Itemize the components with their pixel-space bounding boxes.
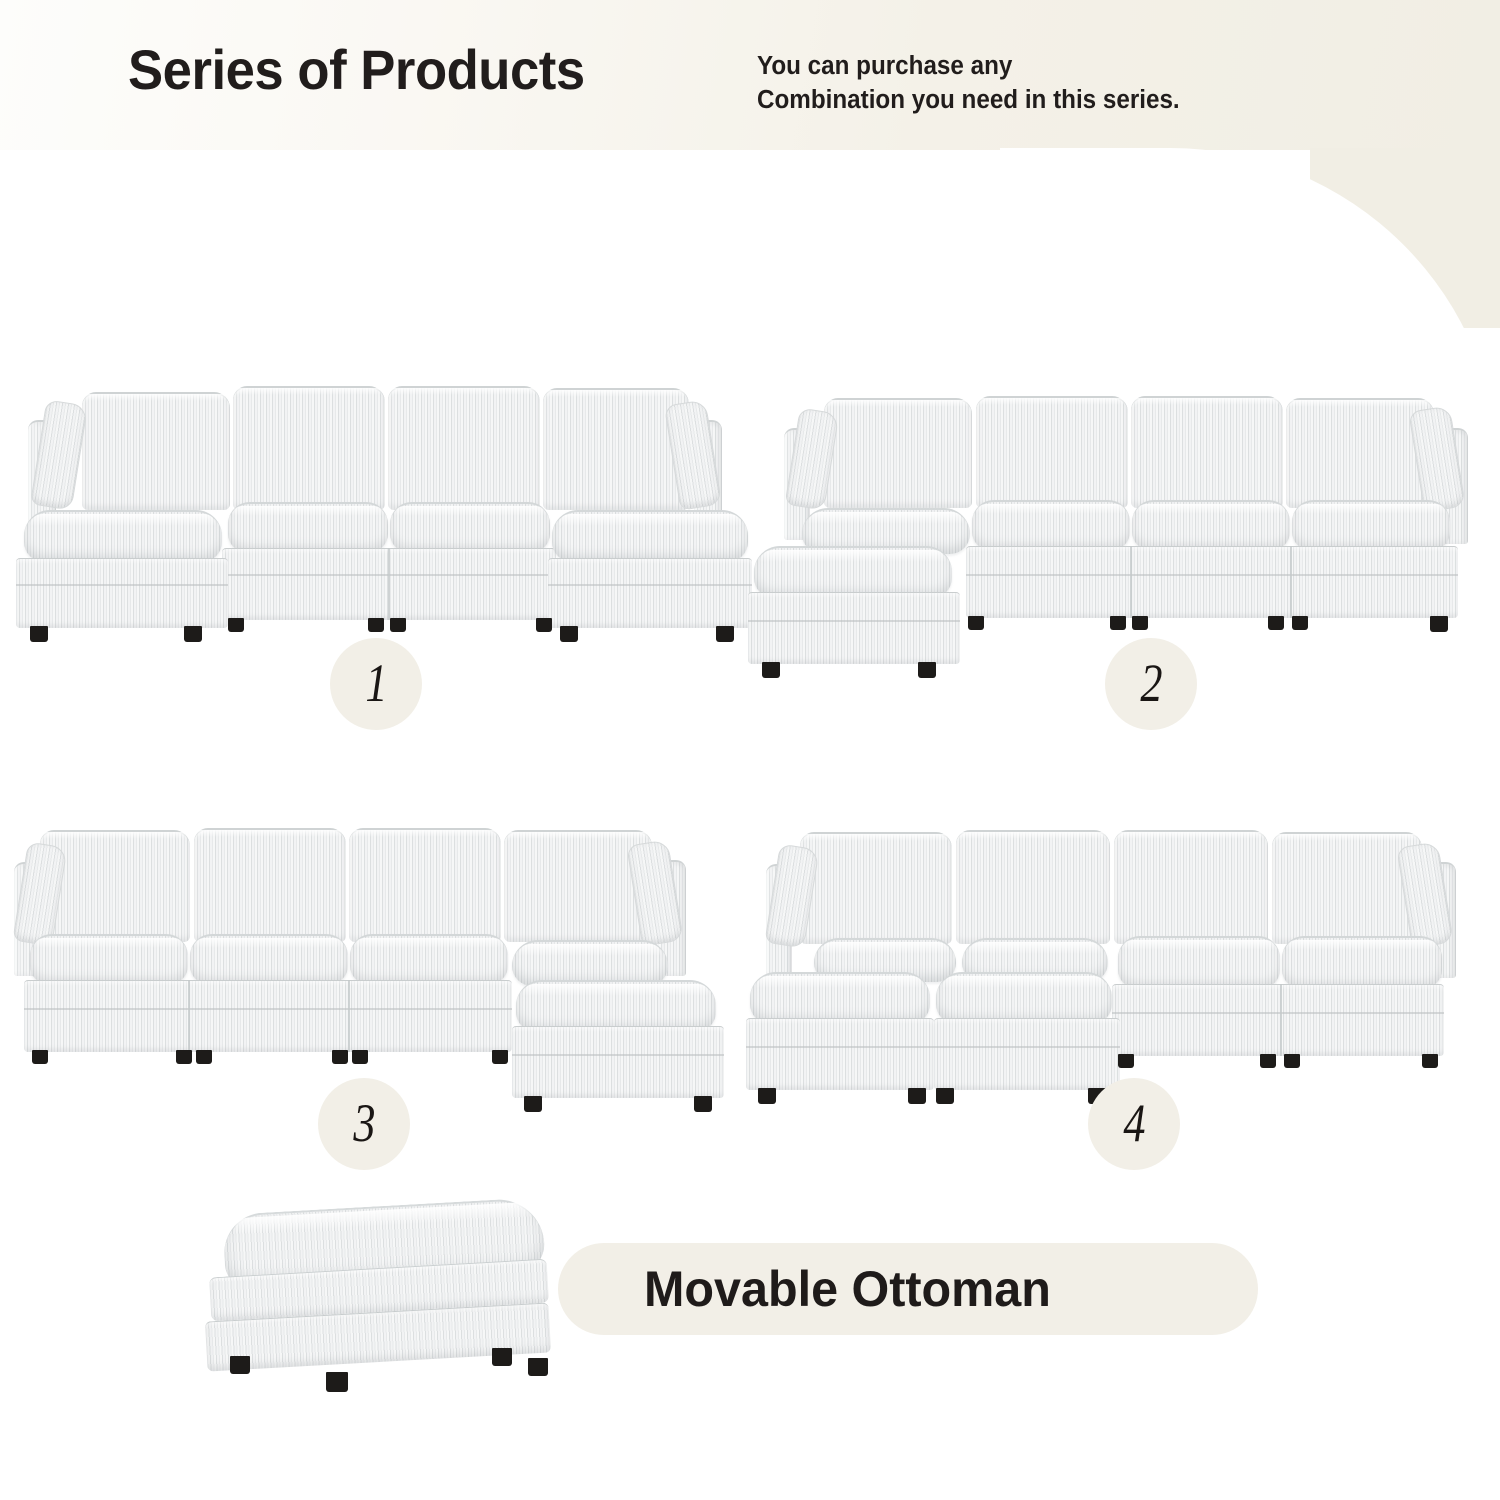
module-seam	[388, 548, 390, 620]
combination-2-illustration	[740, 370, 1500, 625]
base-seam	[24, 1008, 512, 1010]
seat-cushion	[1132, 500, 1290, 550]
combination-badge-number: 2	[1140, 652, 1162, 714]
header-subtitle: You can purchase any Combination you nee…	[757, 50, 1180, 118]
base-seam	[512, 1054, 724, 1056]
sofa-leg	[196, 1050, 212, 1064]
sofa-leg	[352, 1050, 368, 1064]
combination-badge-number: 3	[353, 1092, 375, 1154]
back-cushion	[233, 386, 385, 510]
ottoman-cushion-left	[24, 510, 222, 562]
base-seam	[748, 620, 960, 622]
combination-3-illustration	[0, 810, 750, 1070]
sofa-leg	[1118, 1054, 1134, 1068]
combination-1-illustration	[0, 370, 750, 620]
module-seam	[188, 980, 190, 1052]
combination-badge-2[interactable]: 2	[1105, 638, 1197, 730]
page-title: Series of Products	[128, 37, 585, 102]
sofa-leg	[762, 662, 780, 678]
sofa-leg	[1292, 616, 1308, 630]
combination-badge-1[interactable]: 1	[330, 638, 422, 730]
sofa-base	[1112, 984, 1444, 1056]
seat-cushion	[30, 934, 188, 984]
seat-cushion	[228, 502, 388, 552]
sofa-base	[24, 980, 512, 1052]
back-cushion	[956, 830, 1110, 944]
sofa-leg	[332, 1050, 348, 1064]
back-cushion	[1114, 830, 1268, 944]
base-seam	[1112, 1012, 1444, 1014]
header-subtitle-line-1: You can purchase any	[757, 50, 1180, 84]
ottoman-cushion-left	[754, 546, 952, 598]
sofa-leg	[536, 618, 552, 632]
throw-pillow-left	[30, 399, 88, 510]
base-seam	[16, 584, 228, 586]
back-cushion	[543, 388, 689, 510]
combination-3[interactable]: 3	[0, 810, 750, 1160]
seat-cushion	[972, 500, 1130, 550]
seat-cushion	[350, 934, 508, 984]
combination-badge-number: 4	[1123, 1092, 1145, 1154]
seat-cushion	[190, 934, 348, 984]
sofa-leg	[1268, 616, 1284, 630]
movable-ottoman-illustration[interactable]	[196, 1196, 596, 1436]
combination-badge-number: 1	[365, 652, 387, 714]
sofa-leg	[184, 626, 202, 642]
ottoman-leg	[230, 1356, 250, 1374]
back-cushion	[40, 830, 190, 942]
ottoman-cushion-left-1	[750, 972, 930, 1024]
back-cushion	[82, 392, 230, 510]
combination-2[interactable]: 2	[740, 370, 1500, 720]
sofa-leg	[30, 626, 48, 642]
sofa-leg	[918, 662, 936, 678]
base-seam	[934, 1046, 1120, 1048]
back-cushion	[1131, 396, 1283, 508]
back-cushion	[824, 398, 972, 508]
base-seam	[548, 584, 752, 586]
sofa-leg	[968, 616, 984, 630]
module-seam	[1130, 546, 1132, 618]
combination-4-illustration	[740, 810, 1500, 1070]
ottoman-base-right	[548, 558, 752, 628]
seat-cushion	[1282, 936, 1442, 988]
combination-badge-3[interactable]: 3	[318, 1078, 410, 1170]
ottoman-base-left	[748, 592, 960, 664]
ottoman-leg	[528, 1358, 548, 1376]
ottoman-cushion-left-2	[936, 972, 1112, 1024]
back-cushion	[388, 386, 540, 510]
ottoman-cushion-right	[516, 980, 716, 1032]
sofa-leg	[524, 1096, 542, 1112]
back-cushion	[504, 830, 652, 942]
sofa-leg	[908, 1088, 926, 1104]
sofa-leg	[32, 1050, 48, 1064]
sofa-leg	[1132, 616, 1148, 630]
base-seam	[966, 574, 1458, 576]
combination-badge-4[interactable]: 4	[1088, 1078, 1180, 1170]
sofa-leg	[936, 1088, 954, 1104]
sofa-leg	[716, 626, 734, 642]
back-cushion	[1272, 832, 1422, 944]
combination-4[interactable]: 4	[740, 810, 1500, 1160]
sofa-leg	[228, 618, 244, 632]
sofa-leg	[368, 618, 384, 632]
base-seam	[746, 1046, 934, 1048]
sofa-leg	[1260, 1054, 1276, 1068]
back-cushion	[349, 828, 501, 942]
ottoman-base-right	[512, 1026, 724, 1098]
ottoman-base-left	[16, 558, 228, 628]
combination-1[interactable]: 1	[0, 370, 750, 720]
header: Series of Products You can purchase any …	[0, 0, 1500, 150]
back-cushion	[976, 396, 1128, 508]
sofa-leg	[560, 626, 578, 642]
ottoman-leg	[326, 1372, 348, 1392]
ottoman-base-left-2	[934, 1018, 1120, 1090]
sofa-leg	[492, 1050, 508, 1064]
header-subtitle-line-2: Combination you need in this series.	[757, 84, 1180, 118]
sofa-base	[966, 546, 1458, 618]
back-cushion	[194, 828, 346, 942]
seat-cushion	[390, 502, 550, 552]
ottoman-base-left-1	[746, 1018, 934, 1090]
sofa-leg	[1430, 616, 1448, 632]
sofa-leg	[1284, 1054, 1300, 1068]
sofa-leg	[1422, 1054, 1438, 1068]
back-cushion	[800, 832, 952, 944]
sofa-leg	[1110, 616, 1126, 630]
seat-cushion	[1292, 500, 1450, 550]
ottoman-cushion-right	[552, 510, 748, 562]
seat-cushion	[1118, 936, 1280, 988]
module-seam	[1290, 546, 1292, 618]
module-seam	[1280, 984, 1282, 1056]
sofa-leg	[390, 618, 406, 632]
ottoman-leg	[492, 1348, 512, 1366]
sofa-leg	[758, 1088, 776, 1104]
module-seam	[348, 980, 350, 1052]
sofa-leg	[176, 1050, 192, 1064]
sofa-leg	[694, 1096, 712, 1112]
